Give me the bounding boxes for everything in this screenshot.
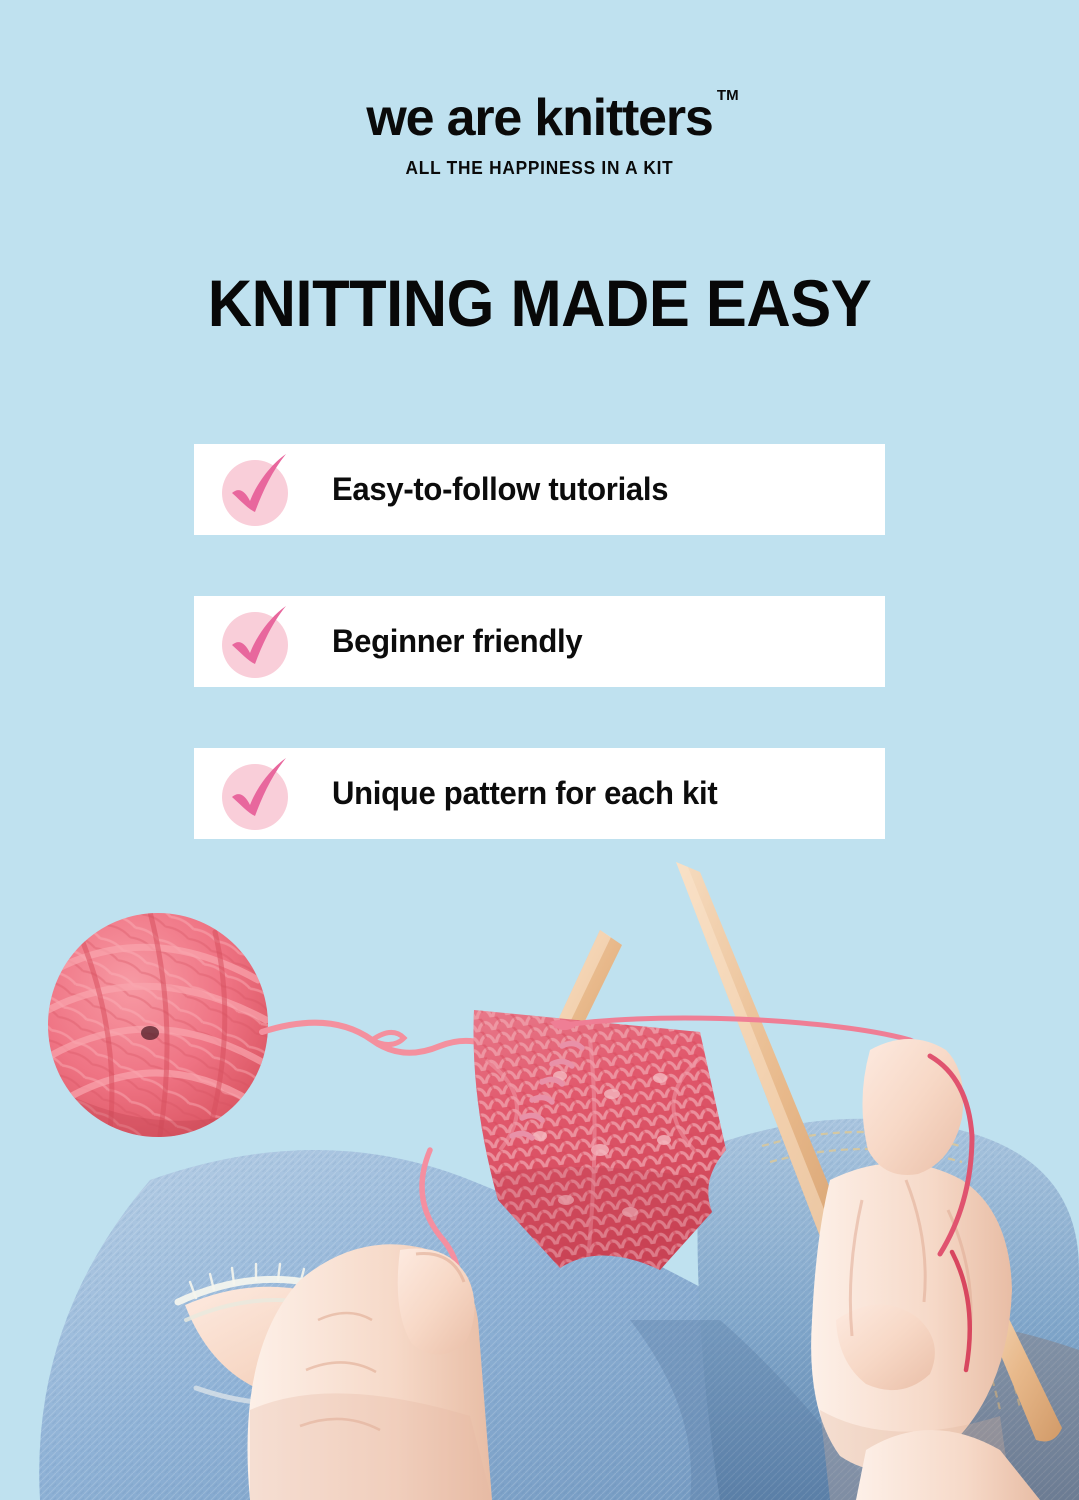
trademark-symbol: TM [717,88,739,103]
brand-wordmark: we are knitters TM [366,92,712,144]
brand-wordmark-text: we are knitters [366,89,712,147]
feature-card: Beginner friendly [194,596,885,687]
brand-tagline: ALL THE HAPPINESS IN A KIT [22,158,1058,179]
pink-check-icon [222,609,288,675]
knitting-photo [0,850,1079,1500]
pink-check-icon [222,761,288,827]
right-hand [811,1039,1012,1500]
poster-canvas: we are knitters TM ALL THE HAPPINESS IN … [0,0,1079,1500]
brand-logo: we are knitters TM ALL THE HAPPINESS IN … [0,92,1079,179]
pink-check-icon [222,457,288,523]
feature-card-label: Unique pattern for each kit [332,775,717,812]
yarn-ball [40,905,500,1150]
feature-card-label: Beginner friendly [332,623,582,660]
page-headline: KNITTING MADE EASY [38,270,1041,336]
feature-card-label: Easy-to-follow tutorials [332,471,668,508]
feature-card: Easy-to-follow tutorials [194,444,885,535]
feature-card-list: Easy-to-follow tutorials Beginner friend… [194,444,885,900]
feature-card: Unique pattern for each kit [194,748,885,839]
